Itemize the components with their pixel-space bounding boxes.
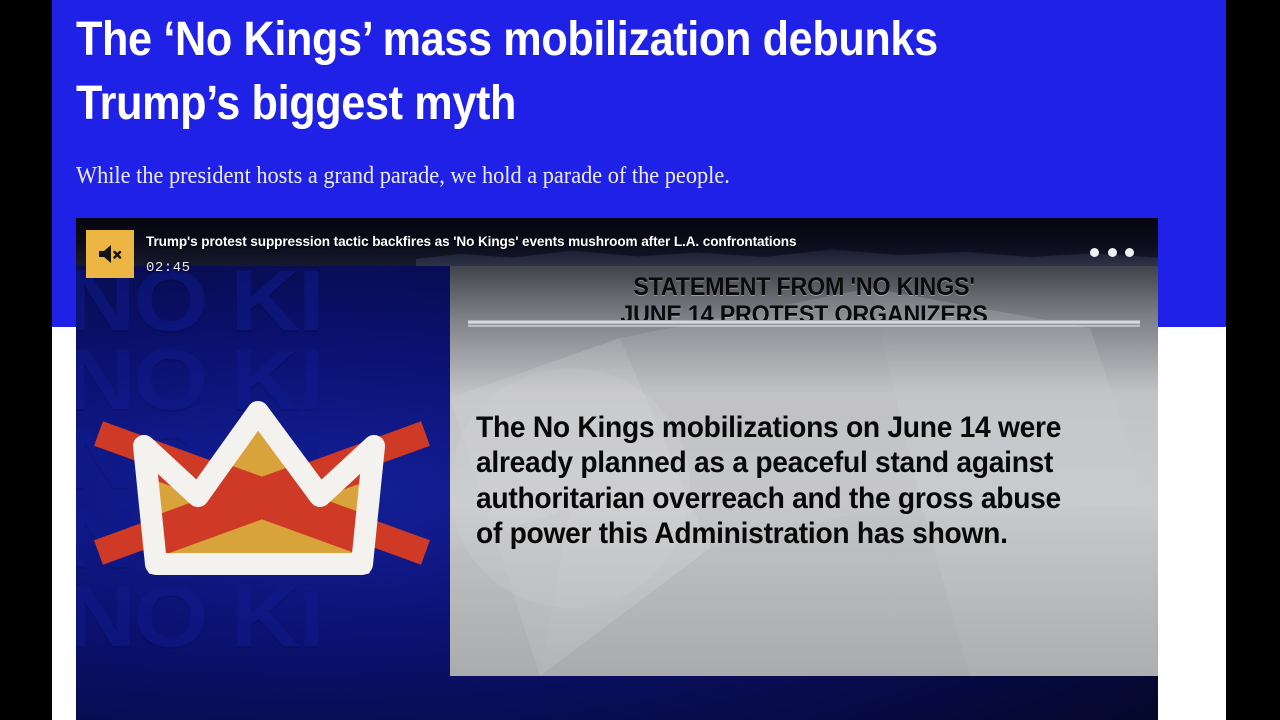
kebab-dot: [1125, 248, 1134, 257]
article-page: The ‘No Kings’ mass mobilization debunks…: [52, 0, 1226, 720]
hero-text-block: The ‘No Kings’ mass mobilization debunks…: [76, 8, 1126, 190]
kebab-dot: [1108, 248, 1117, 257]
statement-graphic-card: STATEMENT FROM 'NO KINGS' JUNE 14 PROTES…: [450, 248, 1158, 676]
speaker-muted-icon: [97, 243, 123, 265]
video-title: Trump's protest suppression tactic backf…: [146, 234, 1000, 249]
statement-card-body: The No Kings mobilizations on June 14 we…: [476, 410, 1096, 552]
mute-toggle-button[interactable]: [86, 230, 134, 278]
page-title: The ‘No Kings’ mass mobilization debunks…: [76, 8, 1021, 136]
background-wordmark-line: NO KI: [76, 262, 466, 341]
article-subheadline: While the president hosts a grand parade…: [76, 162, 1053, 191]
screenshot-stage: The ‘No Kings’ mass mobilization debunks…: [0, 0, 1280, 720]
crown-icon: [82, 368, 442, 608]
more-options-button[interactable]: [1090, 244, 1134, 260]
kebab-dot: [1090, 248, 1099, 257]
video-player[interactable]: NO KI NO KI NO KI NO KI NO KI: [76, 218, 1158, 720]
statement-card-divider: [468, 320, 1140, 325]
letterbox-bar-right: [1226, 0, 1280, 720]
letterbox-bar-left: [0, 0, 52, 720]
no-kings-crown-logo: [82, 368, 442, 608]
video-timestamp: 02:45: [146, 260, 191, 276]
